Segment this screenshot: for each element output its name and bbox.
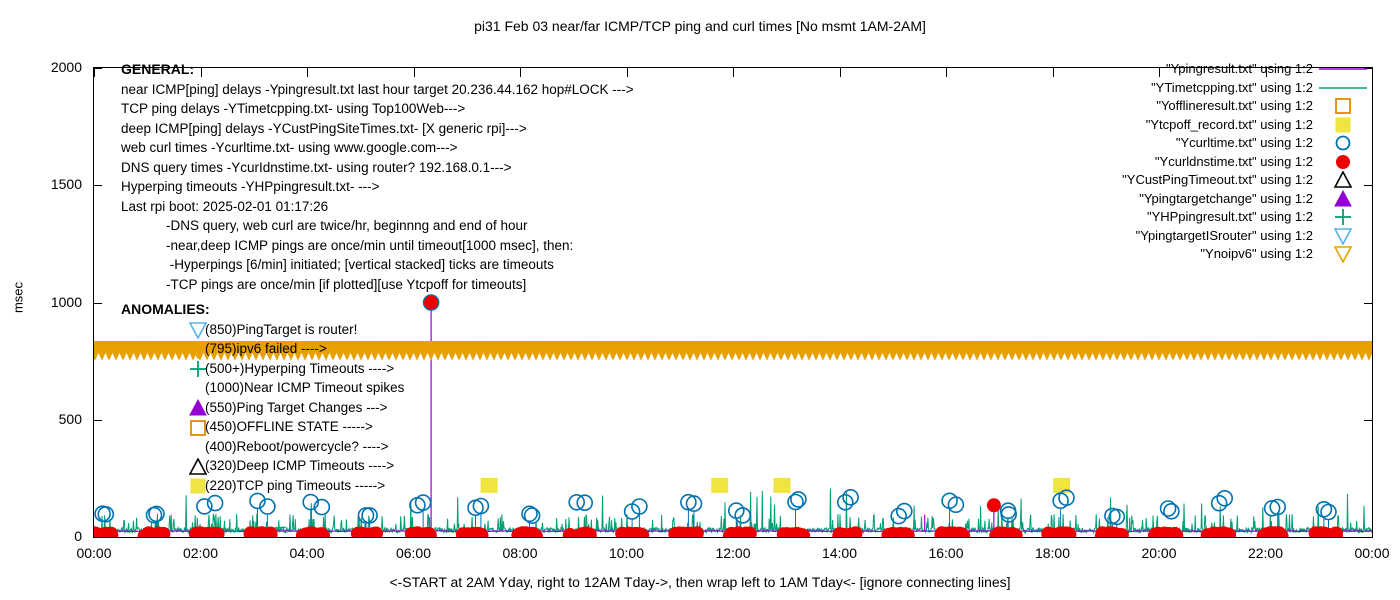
- legend-label: "Ynoipv6" using 1:2: [1200, 245, 1313, 264]
- anomaly-label: (320)Deep ICMP Timeouts ---->: [205, 458, 394, 473]
- marker-dnstime-outlier: [987, 499, 1000, 512]
- marker-dnstime: [563, 529, 576, 537]
- marker-filled-square-icon: [189, 477, 205, 493]
- marker-curltime: [197, 499, 212, 514]
- marker-dnstime: [1053, 529, 1066, 537]
- anomaly-row: (450)OFFLINE STATE ----->: [121, 417, 404, 437]
- anomaly-row: (220)TCP ping Timeouts ----->: [121, 476, 404, 496]
- legend-row: "Ypingtargetchange" using 1:2: [1000, 190, 1373, 209]
- legend-label: "YpingtargetISrouter" using 1:2: [1136, 227, 1313, 246]
- legend-row: "YTimetcpping.txt" using 1:2: [1000, 79, 1373, 98]
- marker-dnstime: [244, 528, 257, 537]
- anomaly-label: (795)ipv6 failed ---->: [205, 341, 327, 356]
- x-tick-label: 00:00: [1332, 545, 1400, 561]
- legend-row: "Ynoipv6" using 1:2: [1000, 245, 1373, 264]
- x-tick-label: 20:00: [1119, 545, 1199, 561]
- marker-dnstime: [208, 527, 221, 537]
- x-tick-label: 18:00: [1013, 545, 1093, 561]
- legend-label: "YHPpingresult.txt" using 1:2: [1147, 208, 1313, 227]
- legend-key-line-icon: [1317, 79, 1373, 98]
- x-tick-label: 14:00: [800, 545, 880, 561]
- legend: "Ypingresult.txt" using 1:2"YTimetcpping…: [1000, 60, 1373, 264]
- x-tick-label: 10:00: [587, 545, 667, 561]
- marker-curltime: [416, 495, 431, 510]
- legend-row: "Ytcpoff_record.txt" using 1:2: [1000, 116, 1373, 135]
- legend-label: "YTimetcpping.txt" using 1:2: [1151, 79, 1313, 98]
- marker-dnstime: [157, 527, 170, 537]
- marker-plus-icon: [189, 360, 205, 376]
- marker-curltime: [1164, 504, 1179, 519]
- marker-dnstime: [264, 527, 277, 537]
- marker-filled-triangle-up-icon: [189, 399, 205, 415]
- general-line: near ICMP[ping] delays -Ypingresult.txt …: [121, 80, 634, 100]
- legend-key-filled-circle-icon: [1317, 153, 1373, 172]
- x-tick-label: 22:00: [1226, 545, 1306, 561]
- marker-curltime: [791, 492, 806, 507]
- legend-key-filled-triangle-up-icon: [1317, 190, 1373, 209]
- marker-dnstime: [459, 528, 472, 537]
- anomaly-label: (500+)Hyperping Timeouts ---->: [205, 361, 394, 376]
- legend-key-plus-icon: [1317, 208, 1373, 227]
- marker-dnstime: [1268, 529, 1281, 537]
- general-heading: GENERAL:: [121, 60, 634, 80]
- marker-open-triangle-down-icon: [189, 341, 205, 357]
- chart-root: pi31 Feb 03 near/far ICMP/TCP ping and c…: [0, 0, 1400, 600]
- marker-dnstime-outlier: [425, 296, 438, 309]
- marker-dnstime: [786, 528, 799, 537]
- anomaly-label: (550)Ping Target Changes --->: [205, 400, 387, 415]
- general-line: -TCP pings are once/min [if plotted][use…: [121, 275, 634, 295]
- x-tick-label: 04:00: [267, 545, 347, 561]
- marker-tcpoff: [481, 478, 497, 492]
- legend-row: "Ycurldnstime.txt" using 1:2: [1000, 153, 1373, 172]
- general-annotation-block: GENERAL: near ICMP[ping] delays -Ypingre…: [121, 60, 634, 294]
- legend-row: "YHPpingresult.txt" using 1:2: [1000, 208, 1373, 227]
- anomaly-label: (1000)Near ICMP Timeout spikes: [205, 380, 404, 395]
- marker-curltime: [1321, 505, 1336, 520]
- marker-dnstime: [143, 527, 156, 537]
- x-tick-label: 00:00: [54, 545, 134, 561]
- marker-dnstime: [101, 528, 114, 537]
- legend-key-open-square-icon: [1317, 97, 1373, 116]
- marker-dnstime: [743, 527, 756, 537]
- marker-curltime: [208, 496, 223, 511]
- y-tick-label: 0: [22, 528, 82, 544]
- marker-dnstime: [1115, 529, 1128, 537]
- legend-label: "Ypingtargetchange" using 1:2: [1139, 190, 1313, 209]
- marker-dnstime: [996, 528, 1009, 537]
- y-tick-label: 1000: [22, 294, 82, 310]
- marker-open-square-icon: [189, 419, 205, 435]
- legend-label: "Ypingresult.txt" using 1:2: [1166, 60, 1313, 79]
- marker-dnstime: [475, 528, 488, 537]
- general-line: TCP ping delays -YTimetcpping.txt- using…: [121, 99, 634, 119]
- marker-dnstime: [524, 528, 537, 537]
- marker-dnstime: [1330, 527, 1343, 537]
- marker-dnstime: [1217, 527, 1230, 537]
- anomaly-rows: (850)PingTarget is router!(795)ipv6 fail…: [121, 320, 404, 496]
- x-tick-label: 12:00: [693, 545, 773, 561]
- marker-dnstime: [414, 529, 427, 537]
- series-YTimetcpping: [94, 488, 1372, 532]
- general-lines: near ICMP[ping] delays -Ypingresult.txt …: [121, 80, 634, 295]
- marker-dnstime: [622, 527, 635, 537]
- legend-row: "Ypingresult.txt" using 1:2: [1000, 60, 1373, 79]
- marker-dnstime: [367, 528, 380, 537]
- general-line: -near,deep ICMP pings are once/min until…: [121, 236, 634, 256]
- marker-dnstime: [193, 527, 206, 537]
- legend-label: "Ycurldnstime.txt" using 1:2: [1155, 153, 1313, 172]
- anomaly-row: (550)Ping Target Changes --->: [121, 398, 404, 418]
- general-line: Hyperping timeouts -YHPpingresult.txt- -…: [121, 177, 634, 197]
- legend-key-open-triangle-up-icon: [1317, 171, 1373, 190]
- legend-row: "YCustPingTimeout.txt" using 1:2: [1000, 171, 1373, 190]
- marker-open-triangle-down-icon: [189, 321, 205, 337]
- marker-curltime: [473, 499, 488, 514]
- page-title: pi31 Feb 03 near/far ICMP/TCP ping and c…: [0, 18, 1400, 34]
- legend-key-line-icon: [1317, 60, 1373, 79]
- general-line: web curl times -Ycurltime.txt- using www…: [121, 138, 634, 158]
- y-tick-label: 1500: [22, 176, 82, 192]
- anomaly-row: (400)Reboot/powercycle? ---->: [121, 437, 404, 457]
- anomaly-label: (400)Reboot/powercycle? ---->: [205, 439, 388, 454]
- marker-dnstime: [891, 529, 904, 537]
- general-line: DNS query times -YcurIdnstime.txt- using…: [121, 158, 634, 178]
- anomaly-row: (850)PingTarget is router!: [121, 320, 404, 340]
- anomaly-label: (220)TCP ping Timeouts ----->: [205, 478, 385, 493]
- legend-key-open-circle-icon: [1317, 134, 1373, 153]
- marker-open-triangle-up-icon: [189, 458, 205, 474]
- marker-tcpoff: [712, 478, 728, 492]
- anomaly-row: (1000)Near ICMP Timeout spikes: [121, 378, 404, 398]
- legend-key-open-triangle-down-icon: [1317, 227, 1373, 246]
- legend-row: "Ycurltime.txt" using 1:2: [1000, 134, 1373, 153]
- x-tick-label: 06:00: [374, 545, 454, 561]
- x-tick-label: 02:00: [161, 545, 241, 561]
- general-line: -Hyperpings [6/min] initiated; [vertical…: [121, 255, 634, 275]
- legend-key-open-triangle-down-icon: [1317, 245, 1373, 264]
- anomaly-row: (320)Deep ICMP Timeouts ---->: [121, 456, 404, 476]
- x-tick-label: 08:00: [480, 545, 560, 561]
- y-tick-label: 500: [22, 411, 82, 427]
- marker-curltime: [98, 507, 113, 522]
- marker-dnstime: [1103, 529, 1116, 537]
- y-tick-label: 2000: [22, 59, 82, 75]
- general-line: deep ICMP[ping] delays -YCustPingSiteTim…: [121, 119, 634, 139]
- anomalies-annotation-block: ANOMALIES: (850)PingTarget is router!(79…: [121, 300, 404, 495]
- anomaly-row: (795)ipv6 failed ---->: [121, 339, 404, 359]
- marker-curltime: [359, 508, 374, 523]
- anomaly-label: (850)PingTarget is router!: [205, 322, 357, 337]
- marker-tcpoff: [774, 478, 790, 492]
- marker-dnstime: [1158, 527, 1171, 537]
- general-line: Last rpi boot: 2025-02-01 01:17:26: [121, 197, 634, 217]
- legend-label: "Ytcpoff_record.txt" using 1:2: [1146, 116, 1313, 135]
- anomalies-heading: ANOMALIES:: [121, 300, 404, 320]
- x-tick-label: 16:00: [906, 545, 986, 561]
- x-axis-caption: <-START at 2AM Yday, right to 12AM Tday-…: [0, 574, 1400, 590]
- legend-label: "Yofflineresult.txt" using 1:2: [1156, 97, 1313, 116]
- anomaly-label: (450)OFFLINE STATE ----->: [205, 419, 373, 434]
- legend-row: "YpingtargetISrouter" using 1:2: [1000, 227, 1373, 246]
- legend-key-filled-square-icon: [1317, 116, 1373, 135]
- marker-curltime: [95, 506, 110, 521]
- marker-dnstime: [305, 527, 318, 537]
- anomaly-row: (500+)Hyperping Timeouts ---->: [121, 359, 404, 379]
- legend-row: "Yofflineresult.txt" using 1:2: [1000, 97, 1373, 116]
- legend-label: "Ycurltime.txt" using 1:2: [1176, 134, 1313, 153]
- legend-label: "YCustPingTimeout.txt" using 1:2: [1122, 171, 1313, 190]
- general-line: -DNS query, web curl are twice/hr, begin…: [121, 216, 634, 236]
